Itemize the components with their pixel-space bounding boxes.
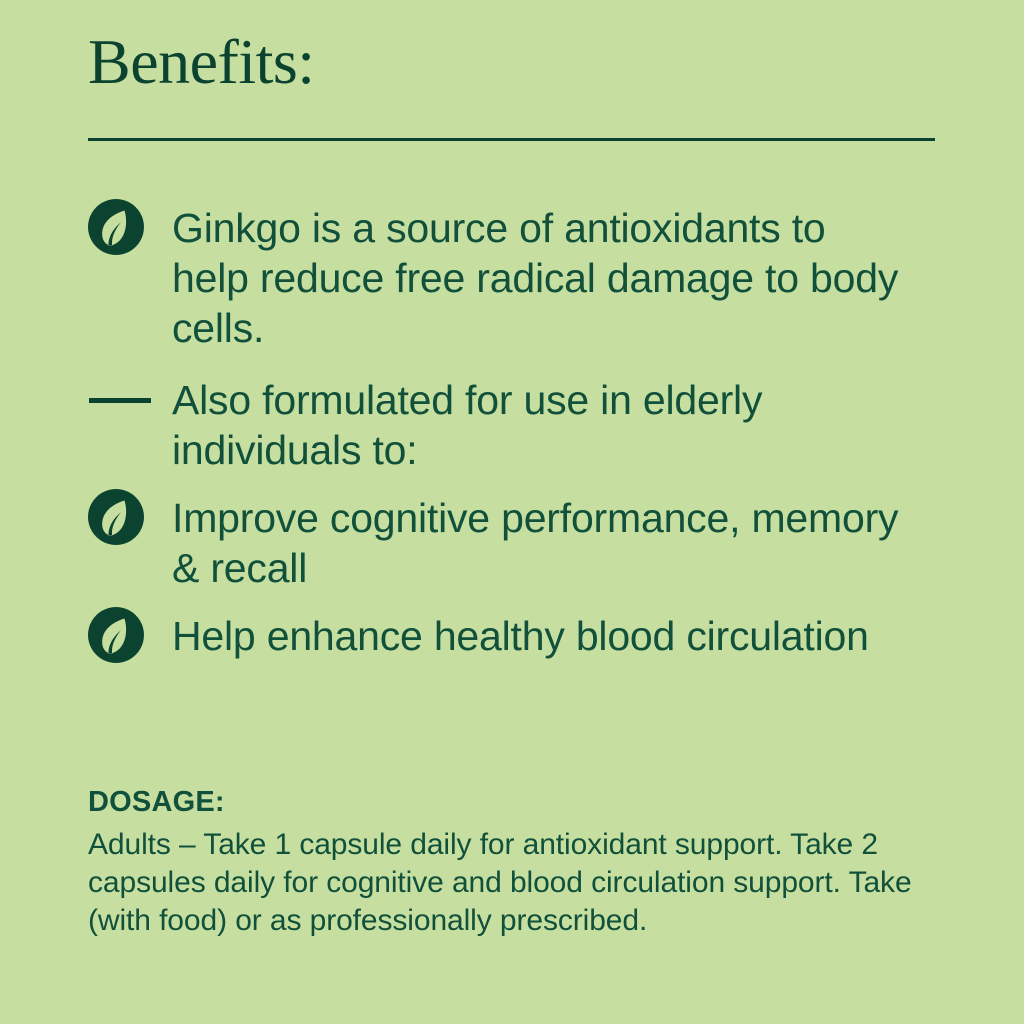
title-divider (88, 138, 935, 141)
benefit-text: Improve cognitive performance, memory & … (172, 493, 912, 593)
benefit-item: Also formulated for use in elderly indiv… (88, 375, 968, 475)
benefit-item: Help enhance healthy blood circulation (88, 611, 968, 661)
benefits-list: Ginkgo is a source of antioxidants to he… (88, 203, 968, 679)
leaf-icon (88, 611, 144, 661)
dosage-heading: DOSAGE: (88, 783, 968, 821)
dosage-section: DOSAGE: Adults – Take 1 capsule daily fo… (88, 783, 968, 940)
leaf-icon (88, 203, 144, 253)
benefit-item: Ginkgo is a source of antioxidants to he… (88, 203, 968, 353)
benefit-text: Help enhance healthy blood circulation (172, 611, 912, 661)
page-title: Benefits: (88, 24, 315, 100)
benefit-text: Also formulated for use in elderly indiv… (172, 375, 912, 475)
benefits-panel: Benefits: Ginkgo is a source of antioxid… (0, 0, 1024, 1024)
benefit-item: Improve cognitive performance, memory & … (88, 493, 968, 593)
dash-icon (88, 375, 144, 425)
benefit-text: Ginkgo is a source of antioxidants to he… (172, 203, 912, 353)
dosage-body: Adults – Take 1 capsule daily for antiox… (88, 826, 948, 940)
leaf-icon (88, 493, 144, 543)
